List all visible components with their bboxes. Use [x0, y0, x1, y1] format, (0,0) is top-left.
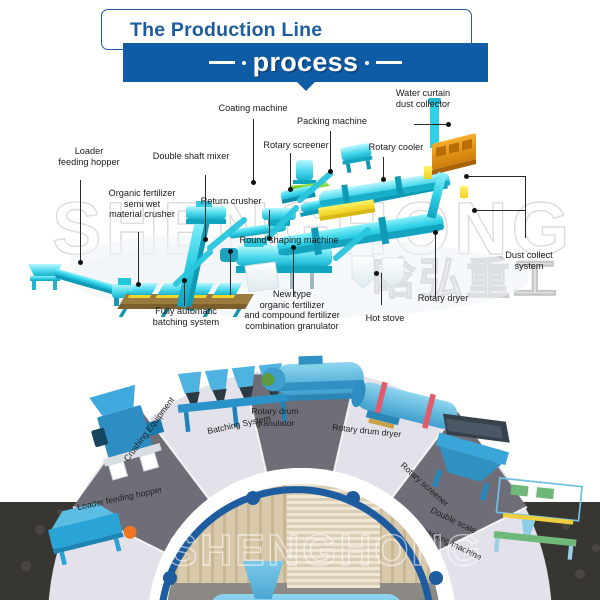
page-root: The Production Line process SHENGHONG 晗弘…	[0, 0, 600, 600]
header-subtitle-group: process	[123, 43, 488, 82]
label-organic-semi-wet-crusher: Organic fertilizer semi wet material cru…	[92, 188, 192, 220]
label-loader-feeding-hopper: Loader feeding hopper	[46, 146, 132, 167]
label-round-shaping-machine: Round shaping machine	[222, 235, 356, 246]
dash-left-icon	[209, 61, 235, 64]
label-combination-granulator: New type organic fertilizer and compound…	[224, 289, 360, 331]
label-rotary-screener: Rotary screener	[248, 140, 344, 151]
header-subtitle: process	[253, 47, 359, 78]
label-rotary-dryer: Rotary dryer	[404, 293, 482, 304]
label-double-shaft-mixer: Double shaft mixer	[137, 151, 245, 162]
label-rotary-cooler: Rotary cooler	[354, 142, 438, 153]
label-fully-automatic-batching-system: Fully automatic batching system	[134, 306, 238, 327]
label-hot-stove: Hot stove	[353, 313, 417, 324]
label-dust-collect-system: Dust collect system	[487, 250, 571, 271]
svg-text:Rotary drum: Rotary drum	[251, 406, 298, 416]
label-water-curtain-dust-collector: Water curtain dust collector	[378, 88, 468, 109]
dot-right-icon	[365, 61, 369, 65]
dot-left-icon	[242, 61, 246, 65]
page-title: The Production Line	[130, 15, 460, 45]
label-return-crusher: Return crusher	[186, 196, 276, 207]
label-coating-machine: Coating machine	[203, 103, 303, 114]
svg-text:granulator: granulator	[256, 418, 295, 428]
label-packing-machine: Packing machine	[284, 116, 380, 127]
dash-right-icon	[376, 61, 402, 64]
watermark-circle: SHENGHONG	[168, 526, 483, 576]
